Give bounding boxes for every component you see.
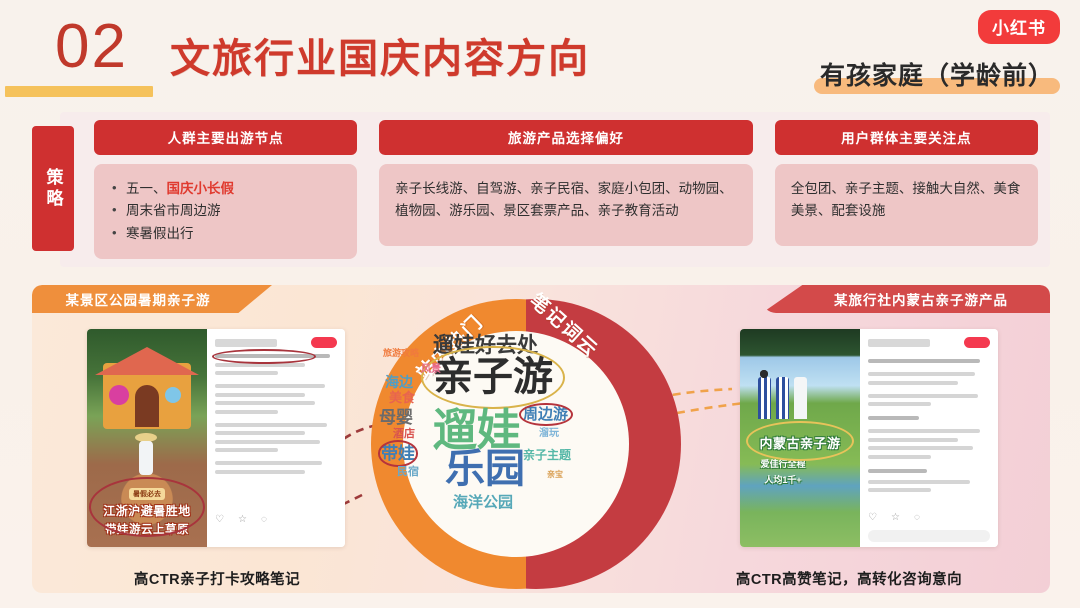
wordcloud-word: 亲子主题: [523, 449, 571, 461]
follow-button[interactable]: [964, 337, 990, 348]
note-text-line: [215, 393, 305, 397]
note-text-line: [215, 461, 322, 465]
cover-highlight-ellipse: [89, 477, 205, 537]
list-item: 寒暑假出行: [110, 223, 341, 245]
star-icon[interactable]: ☆: [238, 514, 247, 525]
wordcloud-visual: 站内热门 笔记词云 遛娃好去处亲子游旅游攻略风景海边美食母婴酒店带娃民宿遛娃乐园…: [371, 287, 681, 593]
wordcloud-word: 民宿: [397, 467, 419, 478]
note-text-line: [868, 429, 980, 433]
column-heading: 人群主要出游节点: [94, 120, 357, 155]
left-note-cover-image: 暑假必去 江浙沪避暑胜地 带娃游云上草原: [87, 329, 207, 547]
children-figures: [758, 377, 807, 419]
column-body: 亲子长线游、自驾游、亲子民宿、家庭小包团、动物园、植物园、游乐园、景区套票产品、…: [379, 164, 753, 246]
column-body: 全包团、亲子主题、接触大自然、美食美景、配套设施: [775, 164, 1038, 246]
right-card-caption: 高CTR高赞笔记，高转化咨询意向: [684, 568, 1014, 589]
note-text-line: [868, 394, 978, 398]
note-text-line: [215, 401, 315, 405]
adult-figure: [794, 377, 807, 419]
strategy-columns: 人群主要出游节点 五一、国庆小长假 周末省市周边游 寒暑假出行 旅游产品选择偏好…: [94, 120, 1038, 259]
strategy-tab: 策略: [32, 126, 74, 251]
note-action-bar[interactable]: ♡ ☆ ◌ ⤴: [868, 510, 998, 525]
child-body: [139, 441, 153, 475]
comment-icon[interactable]: ◌: [914, 512, 920, 523]
note-text-line: [868, 416, 919, 420]
note-text-line: [868, 455, 931, 459]
note-text-line: [868, 488, 931, 492]
section-number-underline: [5, 86, 153, 97]
wordcloud-word: 海洋公园: [453, 495, 513, 510]
note-text-line: [868, 480, 970, 484]
adult-head: [760, 370, 768, 378]
note-text-line: [215, 440, 320, 444]
wordcloud-word: 旅游攻略: [383, 349, 419, 358]
note-text-line: [215, 431, 305, 435]
playhouse-door: [135, 385, 159, 427]
section-number: 02: [55, 16, 128, 78]
author-name-placeholder: [868, 339, 930, 347]
strategy-column-product-preference: 旅游产品选择偏好 亲子长线游、自驾游、亲子民宿、家庭小包团、动物园、植物园、游乐…: [379, 120, 753, 259]
playhouse-window-2: [165, 387, 181, 403]
strategy-band: 策略 人群主要出游节点 五一、国庆小长假 周末省市周边游 寒暑假出行 旅游产品选…: [32, 112, 1050, 267]
strategy-column-focus-points: 用户群体主要关注点 全包团、亲子主题、接触大自然、美食美景、配套设施: [775, 120, 1038, 259]
wordcloud-highlight-ellipse: [421, 346, 565, 409]
cover-subtitle-2: 人均1千+: [746, 473, 820, 486]
wordcloud-word: 母婴: [379, 409, 413, 426]
comment-icon[interactable]: ◌: [261, 514, 267, 525]
strategy-column-travel-nodes: 人群主要出游节点 五一、国庆小长假 周末省市周边游 寒暑假出行: [94, 120, 357, 259]
note-text-line: [868, 402, 931, 406]
strategy-tab-label: 策略: [41, 168, 66, 210]
left-note-card[interactable]: 暑假必去 江浙沪避暑胜地 带娃游云上草原: [87, 329, 345, 547]
slide-header: 02 文旅行业国庆内容方向 小红书 有孩家庭（学龄前）: [0, 0, 1080, 112]
column-heading: 旅游产品选择偏好: [379, 120, 753, 155]
note-text-line: [868, 372, 975, 376]
column-heading: 用户群体主要关注点: [775, 120, 1038, 155]
playhouse-roof: [95, 347, 199, 375]
note-text-line: [215, 371, 278, 375]
comment-input[interactable]: [868, 530, 990, 542]
wordcloud-word: 溜玩: [539, 429, 559, 439]
child-figure: [135, 433, 157, 477]
note-text-line: [868, 469, 927, 473]
bullet-list: 五一、国庆小长假 周末省市周边游 寒暑假出行: [110, 178, 341, 245]
note-text-line: [215, 448, 278, 452]
list-item: 周末省市周边游: [110, 200, 341, 222]
wordcloud-highlight-ellipse: [519, 403, 573, 427]
heart-icon[interactable]: ♡: [868, 512, 877, 523]
child-figure: [776, 377, 789, 419]
column-body: 五一、国庆小长假 周末省市周边游 寒暑假出行: [94, 164, 357, 259]
case-study-panel: 某景区公园暑期亲子游 某旅行社内蒙古亲子游产品 站内热门 笔记词云 遛娃好去处亲…: [32, 285, 1050, 593]
brand-badge: 小红书: [978, 10, 1060, 44]
bullet-text: 寒暑假出行: [126, 226, 194, 241]
slide-root: 02 文旅行业国庆内容方向 小红书 有孩家庭（学龄前） 策略 人群主要出游节点 …: [0, 0, 1080, 608]
bullet-text: 周末省市周边游: [126, 203, 221, 218]
note-title-line: [868, 359, 980, 363]
right-note-card[interactable]: 内蒙古亲子游 爱佳行全程 人均1千+: [740, 329, 998, 547]
right-note-cover-image: 内蒙古亲子游 爱佳行全程 人均1千+: [740, 329, 860, 547]
left-card-caption: 高CTR亲子打卡攻略笔记: [72, 568, 362, 589]
note-text-line: [215, 423, 327, 427]
left-case-tab: 某景区公园暑期亲子游: [32, 285, 272, 313]
wordcloud-word: 酒店: [393, 429, 415, 440]
star-icon[interactable]: ☆: [891, 512, 900, 523]
wordcloud-word: 美食: [389, 391, 415, 404]
note-text-line: [215, 384, 325, 388]
audience-text: 有孩家庭（学龄前）: [820, 56, 1054, 92]
child-figure: [758, 377, 771, 419]
list-item: 五一、国庆小长假: [110, 178, 341, 200]
wordcloud-word: 乐园: [445, 449, 525, 489]
note-author-row: [868, 337, 990, 348]
right-case-tab: 某旅行社内蒙古亲子游产品: [762, 285, 1050, 313]
bullet-text: 五一、: [126, 181, 167, 196]
note-text-line: [868, 438, 958, 442]
note-title-ellipse: [212, 349, 316, 364]
note-text-line: [215, 470, 305, 474]
follow-button[interactable]: [311, 337, 337, 348]
left-note-body: ♡ ☆ ◌: [207, 329, 345, 547]
playhouse-window: [109, 385, 129, 405]
heart-icon[interactable]: ♡: [215, 514, 224, 525]
cover-highlight-ellipse: [746, 421, 854, 461]
bullet-highlight: 国庆小长假: [167, 181, 235, 196]
right-note-body: ♡ ☆ ◌ ⤴: [860, 329, 998, 547]
wordcloud-word: 亲宝: [547, 471, 563, 479]
note-text-line: [868, 381, 958, 385]
page-title: 文旅行业国庆内容方向: [170, 26, 590, 84]
note-author-row: [215, 337, 337, 348]
author-name-placeholder: [215, 339, 277, 347]
note-action-bar[interactable]: ♡ ☆ ◌: [215, 514, 267, 525]
note-text-line: [215, 410, 278, 414]
wordcloud-word: 海边: [385, 375, 413, 389]
audience-label: 有孩家庭（学龄前）: [820, 56, 1054, 92]
wordcloud-word: 风景: [421, 365, 441, 375]
note-text-line: [868, 446, 973, 450]
